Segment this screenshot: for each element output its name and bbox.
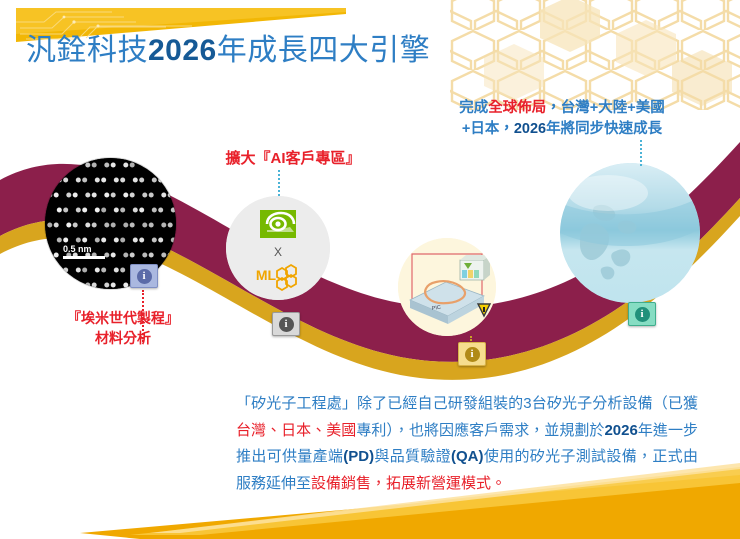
global-line2-post: 年將同步快速成長 [546, 121, 662, 137]
para-seg-year: 2026 [604, 422, 637, 439]
para-seg-patents: 台灣、日本、美國 [236, 422, 356, 439]
scale-bar-label: 0.5 nm [63, 244, 92, 254]
global-line2-pre: +日本， [462, 121, 514, 137]
title-year: 2026 [148, 34, 217, 67]
leader-line-global [640, 140, 642, 166]
info-icon: i [137, 269, 152, 284]
info-badge-ai[interactable]: i [272, 312, 300, 336]
svg-text:ML: ML [256, 267, 277, 283]
info-badge-global[interactable]: i [628, 302, 656, 326]
global-line2-year: 2026 [514, 121, 546, 137]
svg-text:X: X [274, 245, 282, 259]
info-icon: i [465, 347, 480, 362]
globe-image [560, 163, 700, 303]
callout-global-footprint: 完成全球佈局，台灣+大陸+美國 +日本，2026年將同步快速成長 [412, 98, 712, 140]
page-title: 汎銓科技2026年成長四大引擎 [26, 36, 430, 66]
world-globe-icon [560, 163, 700, 303]
global-line1-pre: 完成 [459, 100, 488, 116]
para-seg-3: 專利），也將因應客戶需求，並規劃於 [356, 422, 604, 439]
angstrom-line1: 『埃米世代製程』 [67, 310, 179, 326]
photonic-chip-image: PIC [398, 238, 496, 336]
callout-ai-customer-zone: 擴大『AI客戶專區』 [208, 148, 378, 170]
presentation-slide: 汎銓科技2026年成長四大引擎 完成全球佈局，台灣+大陸+美國 +日本，2026… [0, 0, 740, 539]
ai-partner-logos-icon: X ML [226, 196, 330, 300]
info-icon: i [279, 317, 294, 332]
info-badge-angstrom[interactable]: i [130, 264, 158, 288]
title-tail: 年成長四大引擎 [217, 34, 431, 67]
leader-line-angstrom [142, 290, 144, 342]
para-seg-sales: 設備銷售，拓展新營運模式。 [311, 475, 506, 492]
callout-angstrom-process: 『埃米世代製程』 材料分析 [28, 308, 218, 349]
para-seg-1: 「矽光子工程處」除了已經自己研發組裝的3台矽光子分析設備（已獲 [236, 395, 698, 412]
global-line1-highlight: 全球佈局 [488, 100, 546, 116]
honeycomb-pattern-icon [450, 0, 740, 110]
para-seg-pd: (PD) [343, 448, 374, 465]
chip-label: PIC [431, 305, 441, 312]
leader-line-ai [278, 170, 280, 196]
ai-partners-image: X ML [226, 196, 330, 300]
global-line1-post: ，台灣+大陸+美國 [546, 100, 664, 116]
body-paragraph: 「矽光子工程處」除了已經自己研發組裝的3台矽光子分析設備（已獲台灣、日本、美國專… [236, 391, 698, 498]
scale-bar: 0.5 nm [63, 244, 105, 259]
title-company: 汎銓科技 [26, 34, 148, 67]
para-seg-7: 與品質驗證 [374, 448, 451, 465]
para-seg-qa: (QA) [451, 448, 484, 465]
info-icon: i [635, 307, 650, 322]
photonic-integrated-circuit-icon: PIC [398, 238, 496, 336]
scale-bar-line [63, 256, 105, 259]
info-badge-photonic[interactable]: i [458, 342, 486, 366]
